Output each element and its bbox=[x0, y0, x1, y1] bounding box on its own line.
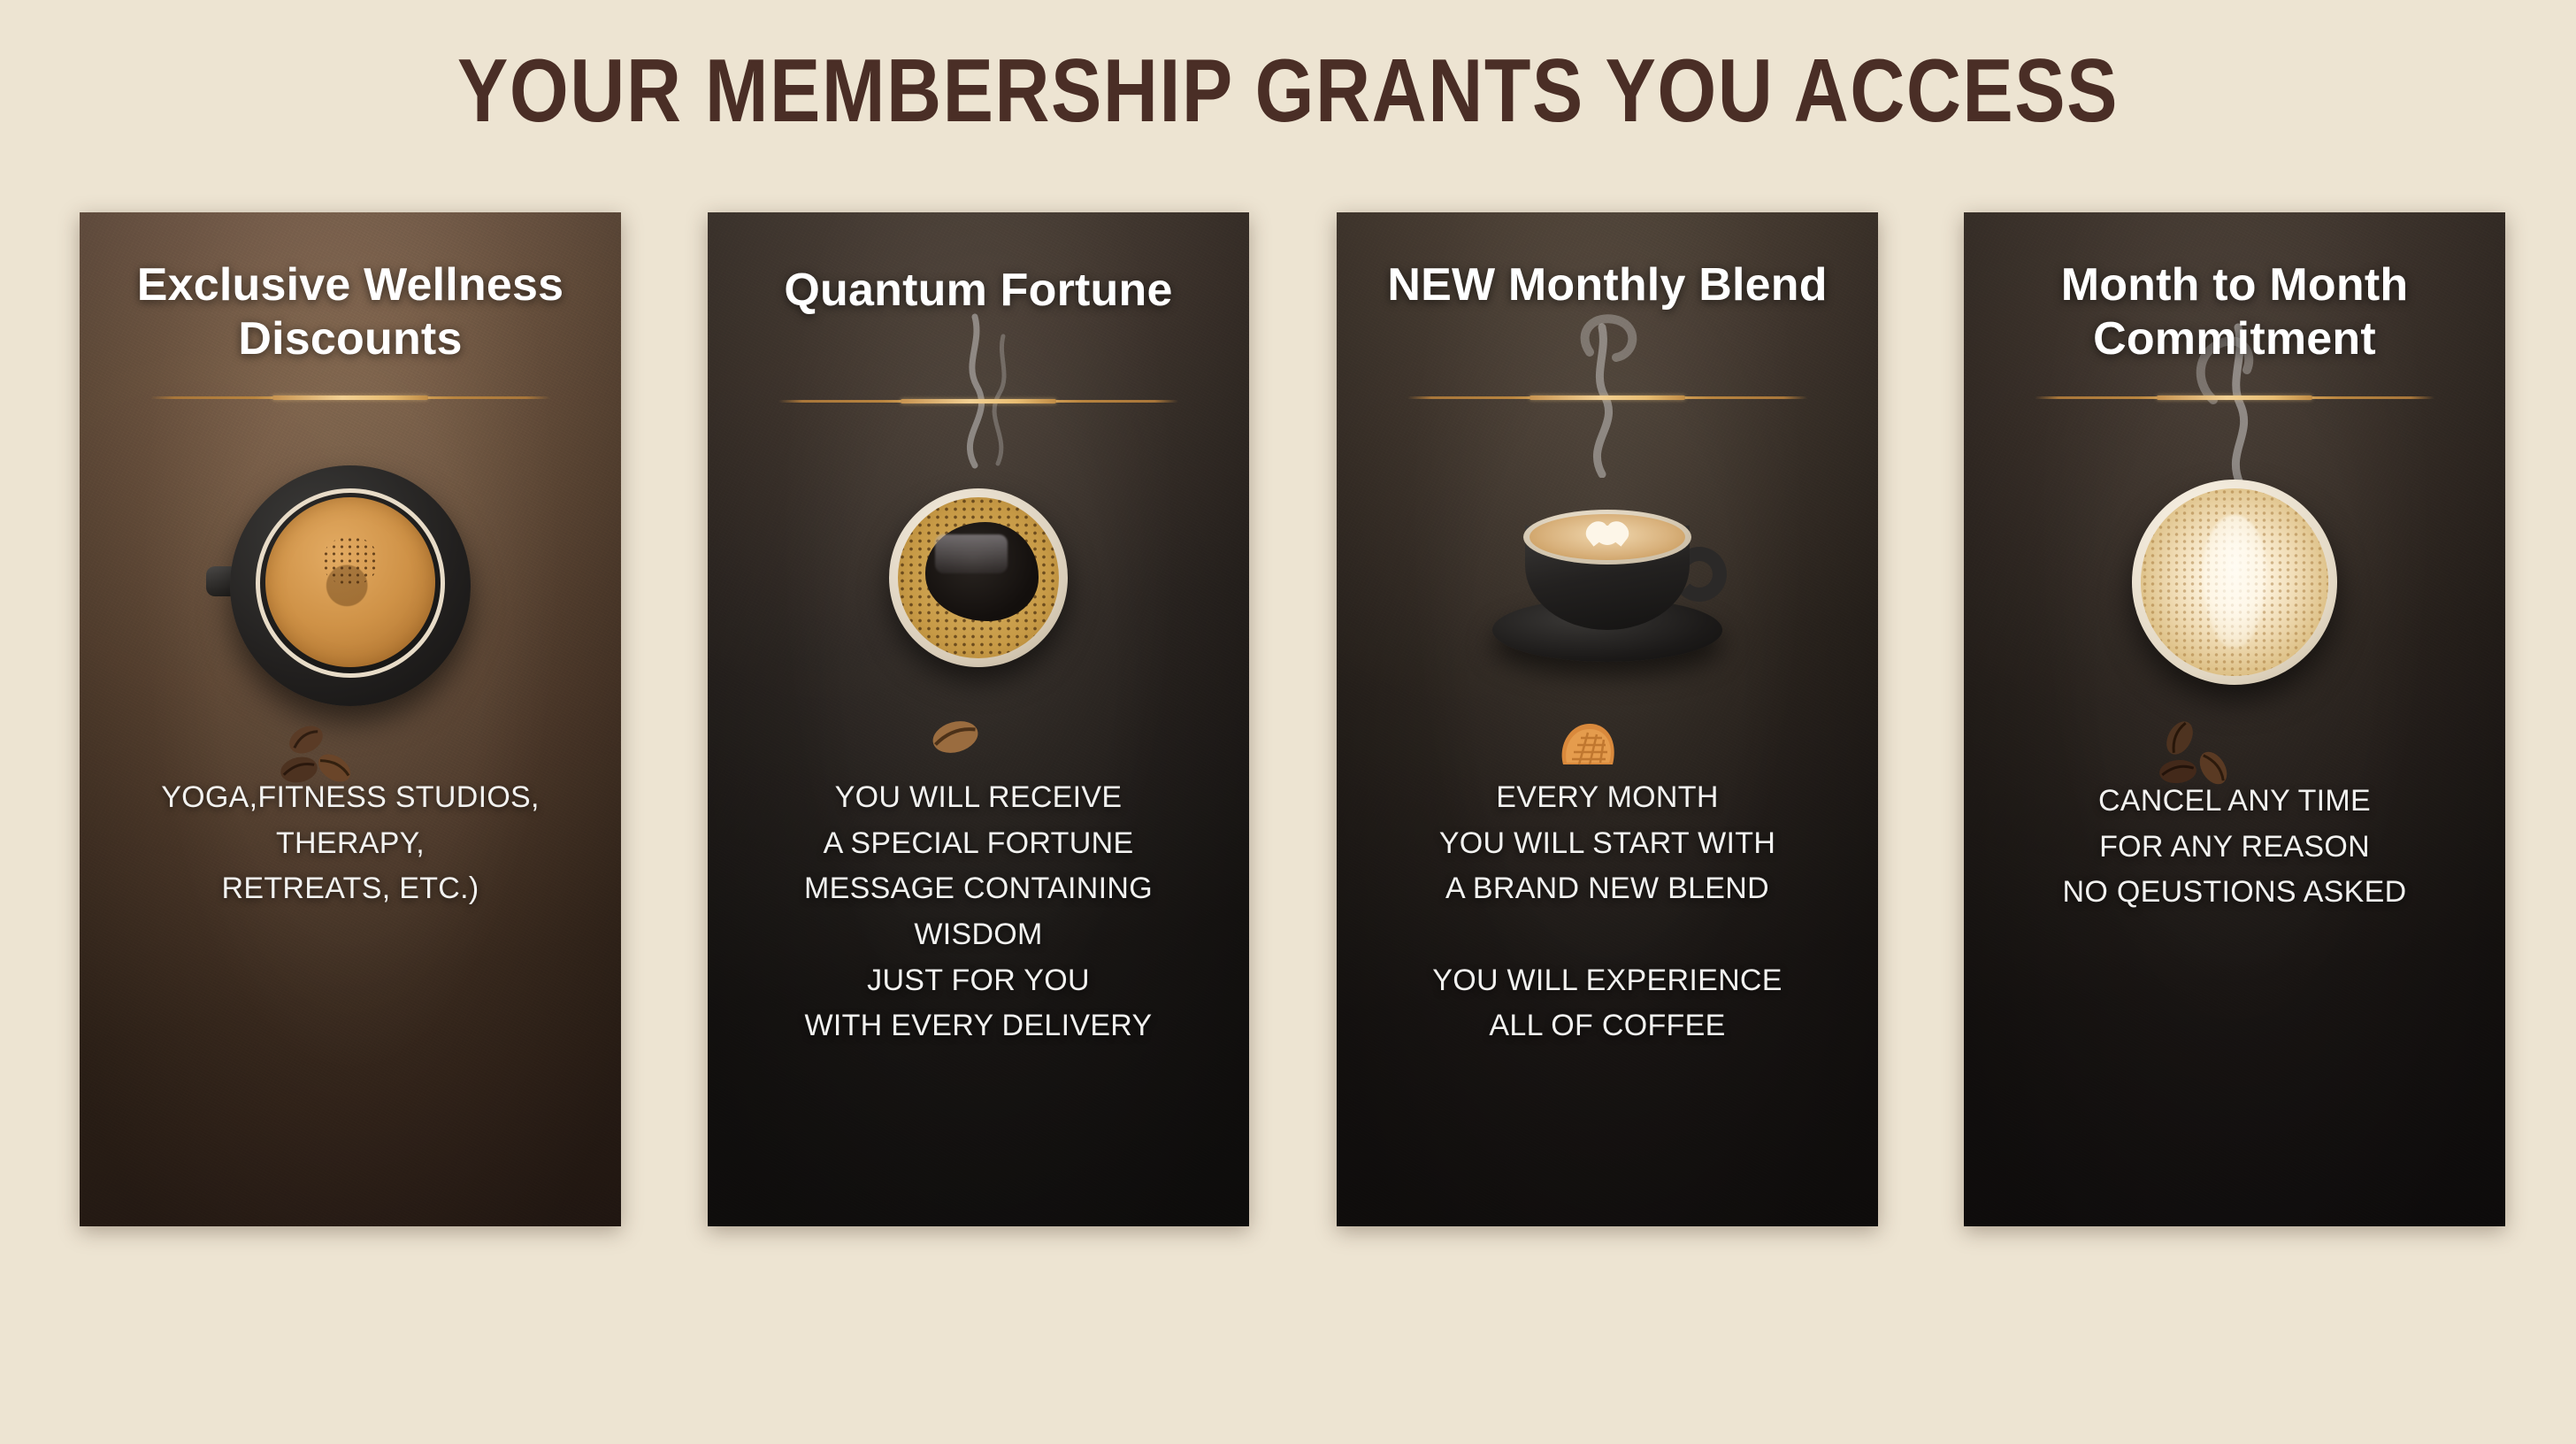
gold-divider bbox=[1407, 396, 1807, 399]
cookie-icon bbox=[1556, 718, 1620, 770]
card-title: Exclusive Wellness Discounts bbox=[80, 258, 621, 367]
black-coffee-cup-image bbox=[708, 434, 1249, 787]
foam-cappuccino-top-down-image bbox=[1964, 434, 2505, 787]
card-body-text: CANCEL ANY TIME FOR ANY REASON NO QEUSTI… bbox=[1964, 779, 2505, 916]
benefit-card-quantum-fortune[interactable]: Quantum Fortune YOU WILL RECEIVE A SPECI… bbox=[708, 212, 1249, 1226]
benefit-card-new-monthly-blend[interactable]: NEW Monthly Blend EVERY MONTH YOU WILL S… bbox=[1337, 212, 1878, 1226]
cappuccino-heart-latte-art-image bbox=[1337, 434, 1878, 787]
coffee-bean-icon bbox=[929, 717, 982, 757]
card-title: Month to Month Commitment bbox=[1964, 258, 2505, 367]
membership-benefits-page: YOUR MEMBERSHIP GRANTS YOU ACCESS bbox=[0, 0, 2576, 1444]
crema-bubbles bbox=[322, 536, 379, 586]
espresso-cup-top-down-image bbox=[80, 434, 621, 787]
steam-icon bbox=[708, 301, 1249, 469]
card-body-text: YOGA,FITNESS STUDIOS, THERAPY, RETREATS,… bbox=[80, 775, 621, 912]
benefit-card-month-to-month-commitment[interactable]: Month to Month Commitment CANCEL ANY TIM… bbox=[1964, 212, 2505, 1226]
card-body-text: EVERY MONTH YOU WILL START WITH A BRAND … bbox=[1337, 775, 1878, 1049]
steam-icon bbox=[1337, 301, 1878, 469]
card-title: NEW Monthly Blend bbox=[1337, 258, 1878, 312]
benefit-card-list: Exclusive Wellness Discounts YOGA,FITNES… bbox=[0, 0, 2576, 1444]
coffee-reflection bbox=[935, 534, 1008, 573]
card-title: Quantum Fortune bbox=[708, 264, 1249, 318]
gold-divider bbox=[2035, 396, 2434, 399]
card-body-text: YOU WILL RECEIVE A SPECIAL FORTUNE MESSA… bbox=[708, 775, 1249, 1049]
benefit-card-exclusive-wellness-discounts[interactable]: Exclusive Wellness Discounts YOGA,FITNES… bbox=[80, 212, 621, 1226]
gold-divider bbox=[778, 400, 1178, 403]
gold-divider bbox=[150, 396, 550, 399]
heart-latte-art-point bbox=[1596, 526, 1619, 545]
